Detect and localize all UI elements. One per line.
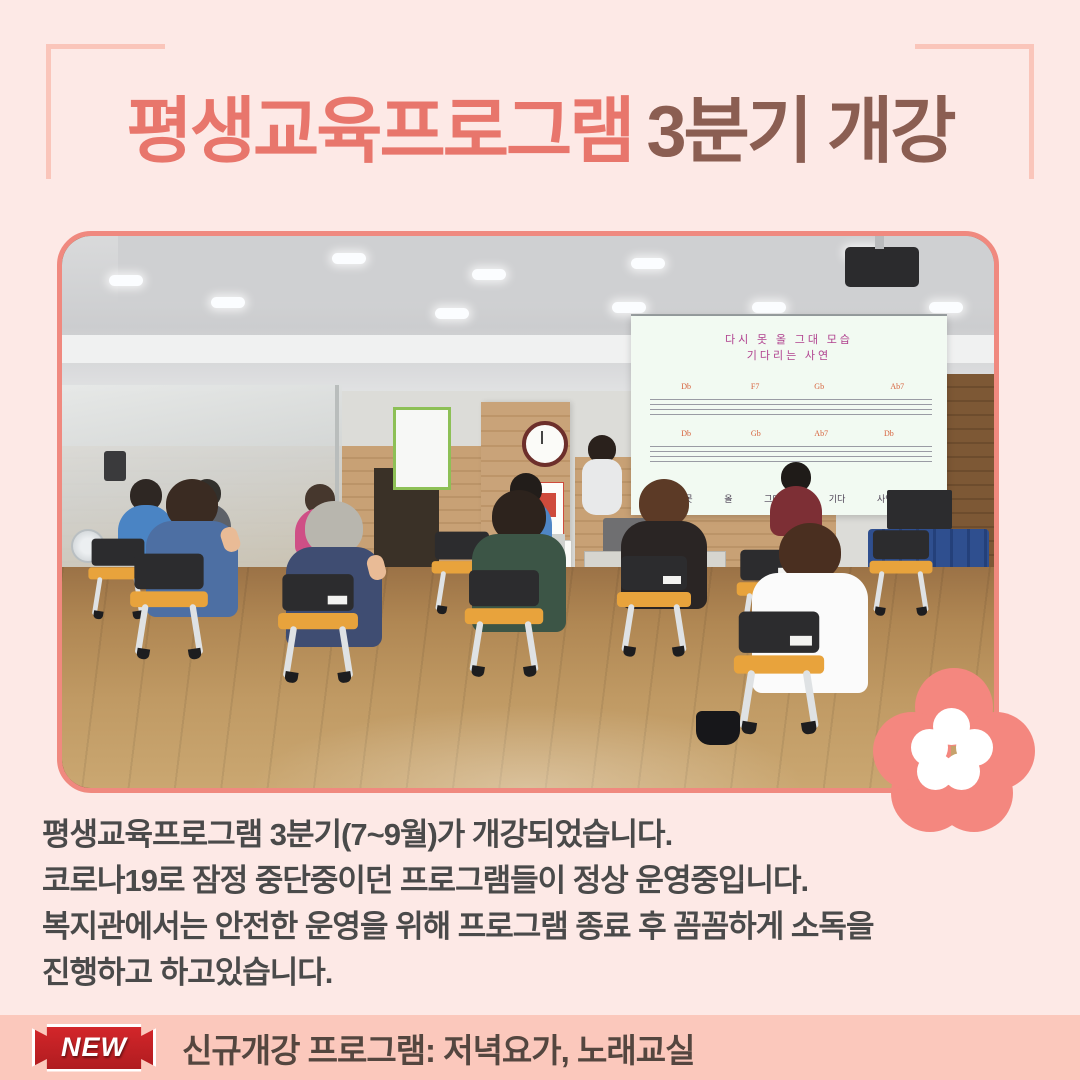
music-staff xyxy=(650,396,932,418)
participant-head xyxy=(639,479,689,527)
chord-label: Gb xyxy=(751,429,761,438)
chair xyxy=(278,574,358,678)
chair-leg xyxy=(873,571,884,612)
chair-back xyxy=(872,530,928,559)
classroom-photo: 다시 못 올 그대 모습 기다리는 사연 Db F7 Gb Ab7 Db Gb … xyxy=(62,236,994,788)
chair xyxy=(130,554,208,655)
chord-label: F7 xyxy=(751,382,759,391)
chair-leg xyxy=(283,626,298,678)
chair-leg xyxy=(91,576,102,615)
chair-back xyxy=(282,574,353,611)
chair-leg xyxy=(525,621,539,672)
wall-speaker-left xyxy=(104,451,126,481)
title-highlight: 평생교육프로그램 xyxy=(127,92,633,172)
new-badge-label: NEW xyxy=(32,1024,156,1072)
body-line-2: 코로나19로 잠정 중단중이던 프로그램들이 정상 운영중입니다. xyxy=(42,858,1032,904)
chair-leg xyxy=(135,604,149,655)
promo-card: 평생교육프로그램3분기 개강 xyxy=(0,0,1080,1080)
handbag xyxy=(696,711,740,745)
notice-board-green xyxy=(393,407,451,490)
chair-leg xyxy=(436,571,447,611)
ceiling-light xyxy=(332,253,366,264)
body-line-1: 평생교육프로그램 3분기(7~9월)가 개강되었습니다. xyxy=(42,812,1032,858)
flower-center xyxy=(911,708,993,790)
chair-leg xyxy=(803,670,819,729)
chair-leg xyxy=(739,670,755,729)
projector xyxy=(845,247,919,287)
chair xyxy=(734,612,824,729)
ceiling-light xyxy=(211,297,245,308)
ceiling-light xyxy=(472,269,506,280)
chair-leg xyxy=(673,604,686,652)
body-line-4: 진행하고 하고있습니다. xyxy=(42,950,1032,996)
chair-label-tag xyxy=(790,636,812,646)
chair-leg xyxy=(917,571,928,612)
chair-foot xyxy=(93,610,104,619)
chord-label: Ab7 xyxy=(890,382,904,391)
lyric-syllable: 기다 xyxy=(829,492,846,505)
song-title-line2: 기다리는 사연 xyxy=(631,348,948,365)
chair-back xyxy=(469,570,539,606)
chair-back xyxy=(739,612,820,653)
song-title: 다시 못 올 그대 모습 기다리는 사연 xyxy=(631,332,948,365)
flower-decoration xyxy=(873,668,1035,830)
song-title-line1: 다시 못 올 그대 모습 xyxy=(631,332,948,349)
wall-clock xyxy=(522,421,568,467)
lyric-syllable: 올 xyxy=(724,492,732,505)
chair xyxy=(617,556,691,652)
ceiling-light xyxy=(435,308,469,319)
chair-leg xyxy=(621,604,634,652)
ceiling-light xyxy=(752,302,786,313)
chord-label: Db xyxy=(681,382,691,391)
chair-label-tag xyxy=(663,576,681,584)
title-main: 3분기 개강 xyxy=(646,92,953,172)
page-title: 평생교육프로그램3분기 개강 xyxy=(0,96,1080,168)
laptop xyxy=(887,490,952,529)
chair xyxy=(465,570,543,672)
chair xyxy=(869,530,932,612)
chord-label: Db xyxy=(681,429,691,438)
ceiling-light xyxy=(631,258,665,269)
footer-bar: NEW 신규개강 프로그램: 저녁요가, 노래교실 xyxy=(0,1015,1080,1080)
chair-back xyxy=(621,556,687,590)
photo-frame: 다시 못 올 그대 모습 기다리는 사연 Db F7 Gb Ab7 Db Gb … xyxy=(57,231,999,793)
chord-label: Ab7 xyxy=(814,429,828,438)
flower-center-petal xyxy=(911,729,948,766)
chair-leg xyxy=(470,621,484,672)
ceiling-light xyxy=(109,275,143,286)
chair-back xyxy=(134,554,203,590)
chord-label: Db xyxy=(884,429,894,438)
chord-label: Gb xyxy=(814,382,824,391)
ceiling-light xyxy=(929,302,963,313)
instructor-body xyxy=(582,459,622,515)
chair-leg xyxy=(189,604,203,655)
new-badge: NEW xyxy=(32,1024,156,1072)
body-line-3: 복지관에서는 안전한 운영을 위해 프로그램 종료 후 꼼꼼하게 소독을 xyxy=(42,904,1032,950)
chair-leg xyxy=(339,626,354,678)
footer-text: 신규개강 프로그램: 저녁요가, 노래교실 xyxy=(182,1024,694,1072)
chair-label-tag xyxy=(328,596,347,605)
body-text: 평생교육프로그램 3분기(7~9월)가 개강되었습니다. 코로나19로 잠정 중… xyxy=(42,812,1032,996)
ceiling-light xyxy=(612,302,646,313)
instructor xyxy=(579,435,625,517)
